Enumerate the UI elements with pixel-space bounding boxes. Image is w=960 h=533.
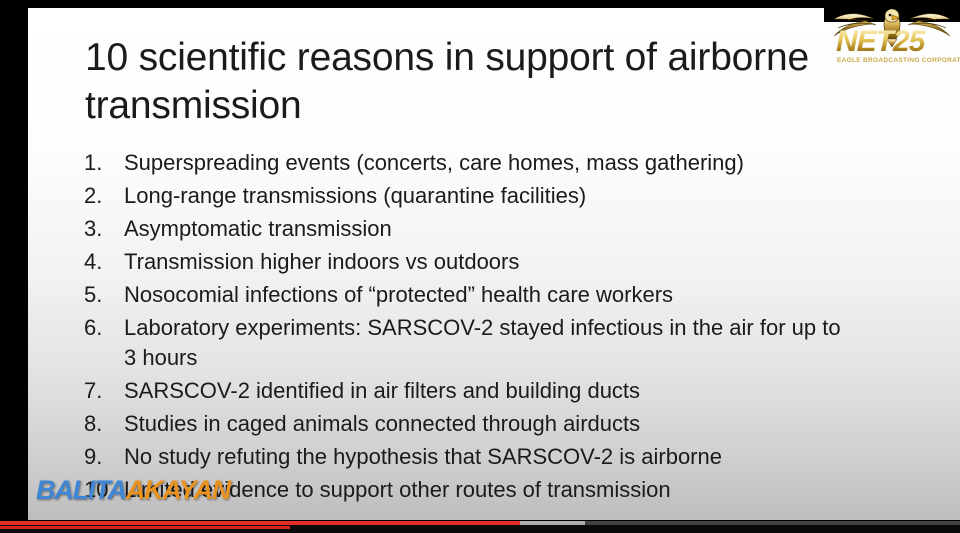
list-item: 3. Asymptomatic transmission (78, 214, 938, 244)
list-item-text: Nosocomial infections of “protected” hea… (124, 280, 938, 310)
video-frame: 10 scientific reasons in support of airb… (0, 0, 960, 533)
program-watermark: BALITAAKAYAN (36, 474, 230, 506)
list-item-number: 6. (78, 313, 124, 343)
list-item-text: Superspreading events (concerts, care ho… (124, 148, 938, 178)
watermark-part-one: BALITA (36, 475, 126, 505)
list-item-text: Laboratory experiments: SARSCOV-2 stayed… (124, 313, 938, 373)
list-item-number: 1. (78, 148, 124, 178)
reasons-list: 1. Superspreading events (concerts, care… (78, 148, 938, 508)
list-item: 1. Superspreading events (concerts, care… (78, 148, 938, 178)
list-item-number: 2. (78, 181, 124, 211)
progress-accent (0, 526, 290, 529)
list-item-text: Limited evidence to support other routes… (124, 475, 938, 505)
list-item: 9. No study refuting the hypothesis that… (78, 442, 938, 472)
list-item-number: 8. (78, 409, 124, 439)
list-item: 6. Laboratory experiments: SARSCOV-2 sta… (78, 313, 938, 373)
list-item-continuation: 3 hours (124, 343, 898, 373)
list-item: 5. Nosocomial infections of “protected” … (78, 280, 938, 310)
watermark-part-two: AKAYAN (126, 475, 230, 505)
list-item-number: 9. (78, 442, 124, 472)
page-title: 10 scientific reasons in support of airb… (85, 34, 875, 130)
list-item-text: Long-range transmissions (quarantine fac… (124, 181, 938, 211)
list-item-number: 3. (78, 214, 124, 244)
list-item: 8. Studies in caged animals connected th… (78, 409, 938, 439)
list-item: 4. Transmission higher indoors vs outdoo… (78, 247, 938, 277)
list-item-number: 5. (78, 280, 124, 310)
list-item-text: Asymptomatic transmission (124, 214, 938, 244)
list-item-text: Studies in caged animals connected throu… (124, 409, 938, 439)
list-item-text: No study refuting the hypothesis that SA… (124, 442, 938, 472)
list-item: 2. Long-range transmissions (quarantine … (78, 181, 938, 211)
list-item-text: SARSCOV-2 identified in air filters and … (124, 376, 938, 406)
list-item: 7. SARSCOV-2 identified in air filters a… (78, 376, 938, 406)
list-item-number: 7. (78, 376, 124, 406)
list-item-number: 4. (78, 247, 124, 277)
presentation-slide: 10 scientific reasons in support of airb… (28, 8, 960, 520)
list-item-text: Transmission higher indoors vs outdoors (124, 247, 938, 277)
list-item-line: Laboratory experiments: SARSCOV-2 stayed… (124, 315, 841, 340)
video-player-screen: 10 scientific reasons in support of airb… (0, 0, 960, 533)
